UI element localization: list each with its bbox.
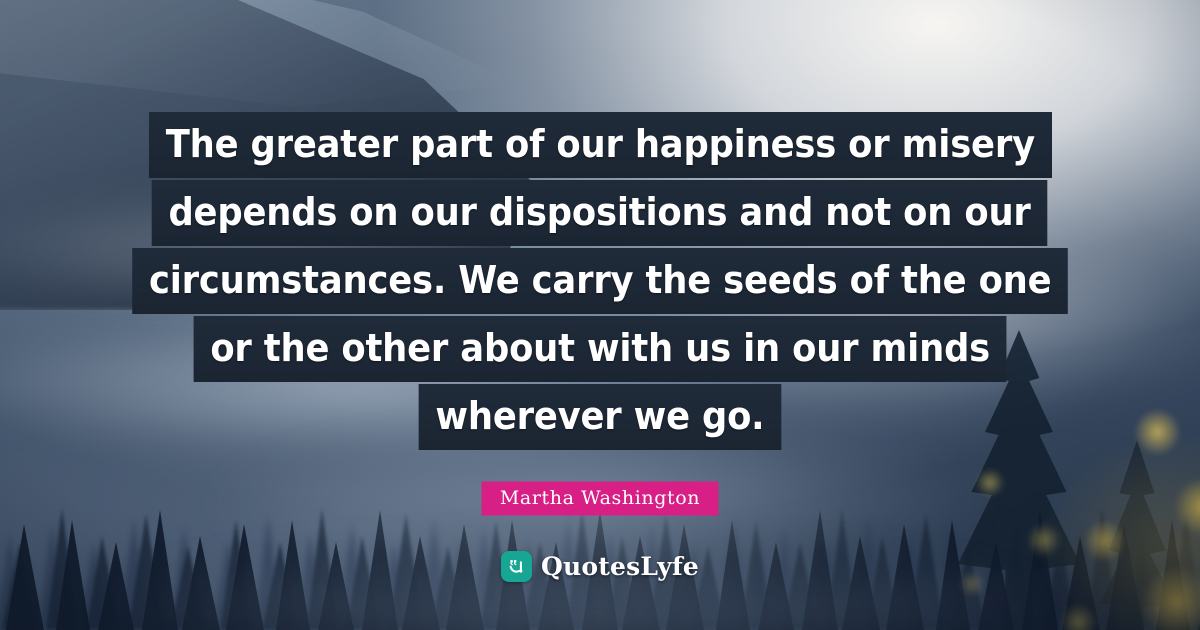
quote-text-block: The greater part of our happiness or mis… <box>0 112 1200 452</box>
brand-name: QuotesLyfe <box>541 552 699 581</box>
quote-poster: The greater part of our happiness or mis… <box>0 0 1200 630</box>
quote-smiley-icon <box>501 551 532 582</box>
quote-line-1: The greater part of our happiness or mis… <box>149 112 1052 178</box>
quote-line-3: circumstances. We carry the seeds of the… <box>132 248 1068 314</box>
quote-line-2: depends on our dispositions and not on o… <box>152 180 1048 246</box>
author-attribution: Martha Washington <box>482 482 718 515</box>
brand-logo[interactable]: QuotesLyfe <box>0 551 1200 582</box>
quote-line-4: or the other about with us in our minds <box>193 316 1006 382</box>
poster-content: The greater part of our happiness or mis… <box>0 0 1200 630</box>
quote-line-5: wherever we go. <box>419 384 782 450</box>
author-name-badge: Martha Washington <box>482 482 718 515</box>
